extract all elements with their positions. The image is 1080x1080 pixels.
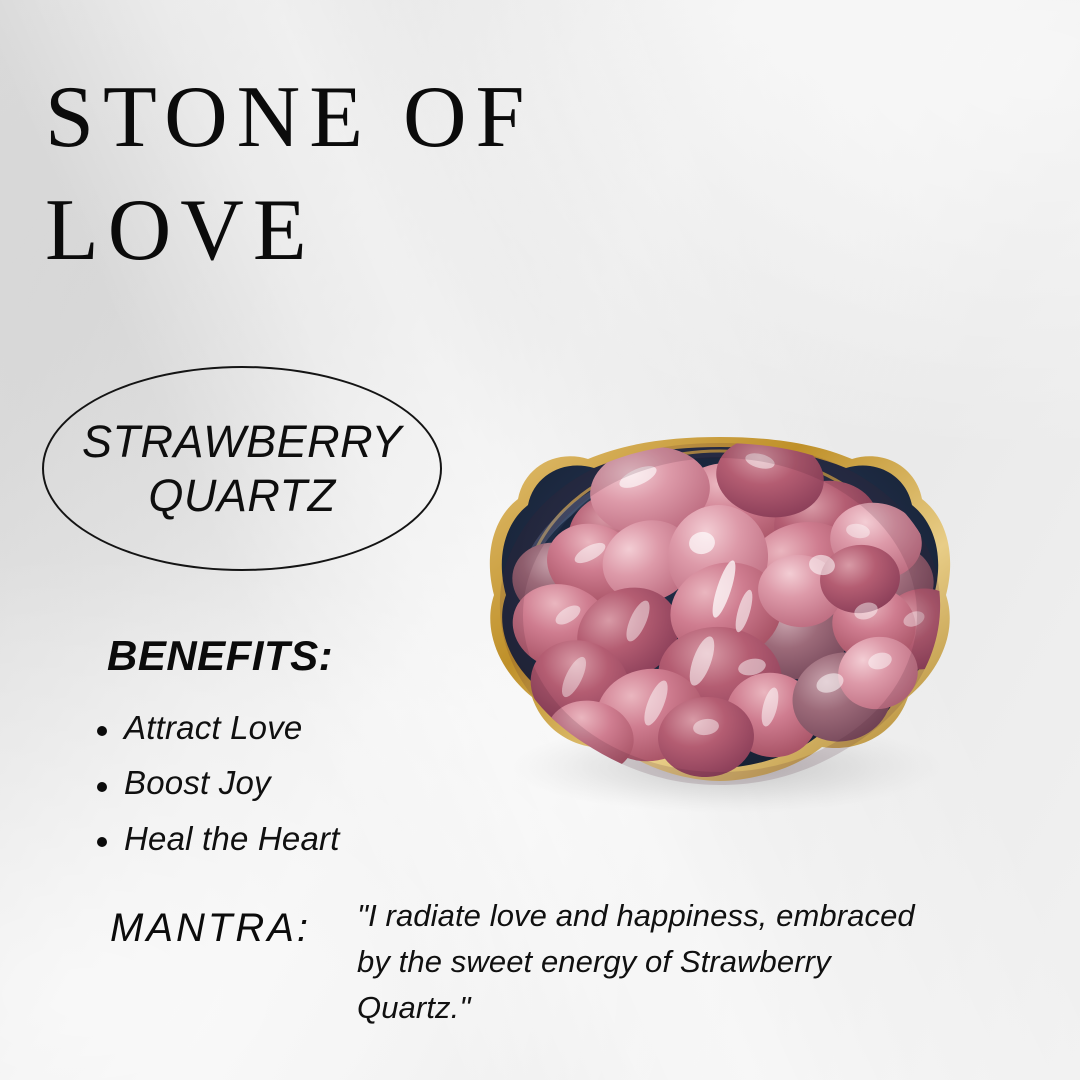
benefit-label: Heal the Heart (124, 820, 340, 857)
benefits-list: Attract Love Boost Joy Heal the Heart (84, 700, 340, 866)
list-item: Attract Love (124, 700, 340, 755)
list-item: Heal the Heart (124, 811, 340, 866)
badge-label: STRAWBERRY QUARTZ (42, 366, 442, 571)
benefit-label: Boost Joy (124, 764, 271, 801)
mantra-quote: "I radiate love and happiness, embraced … (357, 893, 937, 1031)
badge-strawberry-quartz: STRAWBERRY QUARTZ (42, 366, 442, 571)
stone-bowl-image (470, 415, 970, 820)
page-title: STONE OF LOVE (45, 62, 705, 287)
bullet-icon (97, 726, 107, 736)
bullet-icon (97, 782, 107, 792)
benefit-label: Attract Love (124, 709, 303, 746)
mantra-label: MANTRA: (110, 906, 311, 951)
benefits-heading: BENEFITS: (107, 632, 333, 680)
bullet-icon (97, 837, 107, 847)
poster-canvas: STONE OF LOVE STRAWBERRY QUARTZ BENEFITS… (0, 0, 1080, 1080)
list-item: Boost Joy (124, 755, 340, 810)
